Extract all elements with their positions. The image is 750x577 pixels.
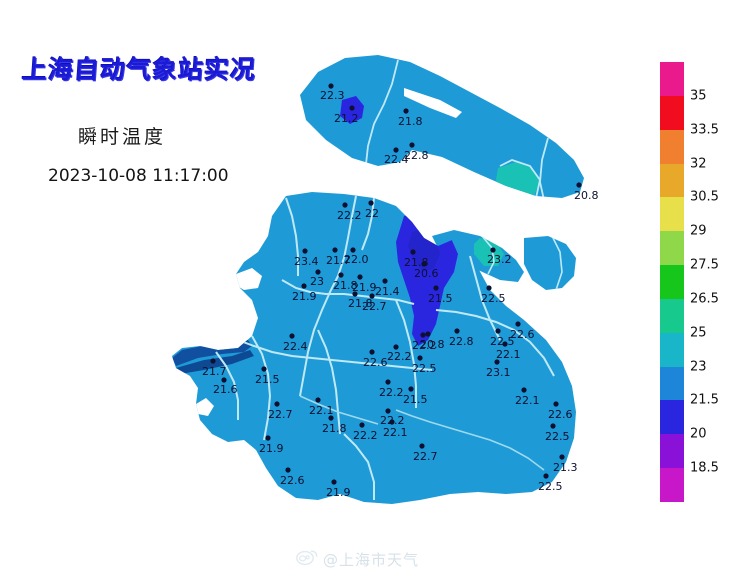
legend-band-9 bbox=[660, 367, 684, 401]
station-temperature-label: 22.1 bbox=[515, 394, 540, 407]
station-dot bbox=[393, 344, 398, 349]
station-dot bbox=[420, 332, 425, 337]
station-dot bbox=[515, 321, 520, 326]
station-temperature-label: 22.6 bbox=[548, 408, 573, 421]
station-temperature-label: 22.8 bbox=[449, 335, 474, 348]
legend-tick-5: 27.5 bbox=[690, 258, 719, 273]
station-dot bbox=[576, 182, 581, 187]
station-temperature-label: 22.1 bbox=[496, 348, 521, 361]
station-temperature-label: 22.2 bbox=[353, 429, 378, 442]
temperature-legend: 3533.53230.52927.526.5252321.52018.5 bbox=[660, 62, 684, 502]
legend-tick-6: 26.5 bbox=[690, 291, 719, 306]
station-dot bbox=[331, 479, 336, 484]
station-temperature-label: 21.5 bbox=[428, 292, 453, 305]
station-temperature-label: 21.2 bbox=[334, 112, 359, 125]
legend-band-6 bbox=[660, 265, 684, 299]
station-dot bbox=[385, 408, 390, 413]
station-temperature-label: 22.2 bbox=[387, 350, 412, 363]
legend-band-0 bbox=[660, 62, 684, 96]
legend-tick-3: 30.5 bbox=[690, 190, 719, 205]
legend-band-10 bbox=[660, 400, 684, 434]
legend-tick-4: 29 bbox=[690, 224, 707, 239]
station-dot bbox=[349, 105, 354, 110]
station-dot bbox=[302, 248, 307, 253]
station-dot bbox=[490, 247, 495, 252]
station-dot bbox=[274, 401, 279, 406]
station-dot bbox=[495, 328, 500, 333]
station-dot bbox=[454, 328, 459, 333]
station-temperature-label: 22 bbox=[365, 207, 379, 220]
station-temperature-label: 22.2 bbox=[380, 414, 405, 427]
station-dot bbox=[315, 269, 320, 274]
station-temperature-label: 21.4 bbox=[375, 285, 400, 298]
legend-color-bands bbox=[660, 62, 684, 502]
station-dot bbox=[369, 293, 374, 298]
station-dot bbox=[403, 108, 408, 113]
station-temperature-label: 22.6 bbox=[363, 356, 388, 369]
station-dot bbox=[221, 377, 226, 382]
legend-tick-7: 25 bbox=[690, 325, 707, 340]
station-temperature-label: 21.8 bbox=[322, 422, 347, 435]
station-dot bbox=[352, 291, 357, 296]
station-temperature-label: 20.8 bbox=[574, 189, 599, 202]
station-temperature-label: 21.6 bbox=[213, 383, 238, 396]
station-dot bbox=[350, 247, 355, 252]
legend-band-8 bbox=[660, 333, 684, 367]
station-dot bbox=[332, 247, 337, 252]
legend-band-12 bbox=[660, 468, 684, 502]
legend-band-3 bbox=[660, 164, 684, 198]
weibo-icon bbox=[296, 548, 318, 571]
station-temperature-label: 22.5 bbox=[545, 430, 570, 443]
legend-band-2 bbox=[660, 130, 684, 164]
station-dot bbox=[261, 366, 266, 371]
legend-tick-2: 32 bbox=[690, 156, 707, 171]
weather-map-screenshot: 上海自动气象站实况 瞬时温度 2023-10-08 11:17:00 bbox=[0, 0, 750, 577]
station-dot bbox=[393, 147, 398, 152]
station-temperature-label: 22.8 bbox=[404, 149, 429, 162]
station-dot bbox=[385, 379, 390, 384]
station-dot bbox=[410, 249, 415, 254]
station-temperature-label: 22.1 bbox=[383, 426, 408, 439]
station-temperature-label: 22.7 bbox=[268, 408, 293, 421]
station-dot bbox=[433, 285, 438, 290]
station-dot bbox=[425, 331, 430, 336]
legend-tick-10: 20 bbox=[690, 427, 707, 442]
station-temperature-label: 22.2 bbox=[337, 209, 362, 222]
weather-station: 20.8 bbox=[574, 182, 599, 202]
station-temperature-label: 22.5 bbox=[481, 292, 506, 305]
station-dot bbox=[265, 435, 270, 440]
station-temperature-label: 22.5 bbox=[412, 362, 437, 375]
station-temperature-label: 22.5 bbox=[538, 480, 563, 493]
station-temperature-label: 23.1 bbox=[486, 366, 511, 379]
watermark: @上海市天气 bbox=[296, 548, 419, 571]
station-dot bbox=[417, 355, 422, 360]
station-dot bbox=[338, 272, 343, 277]
legend-band-5 bbox=[660, 231, 684, 265]
station-temperature-label: 22.1 bbox=[309, 404, 334, 417]
region-chongming-island bbox=[300, 55, 584, 200]
station-temperature-label: 20.6 bbox=[414, 267, 439, 280]
station-temperature-label: 20.8 bbox=[420, 338, 445, 351]
station-temperature-label: 23 bbox=[310, 275, 324, 288]
station-dot bbox=[315, 397, 320, 402]
station-dot bbox=[421, 261, 426, 266]
legend-tick-1: 33.5 bbox=[690, 122, 719, 137]
legend-tick-8: 23 bbox=[690, 359, 707, 374]
legend-tick-9: 21.5 bbox=[690, 393, 719, 408]
station-temperature-label: 21.9 bbox=[292, 290, 317, 303]
station-dot bbox=[419, 443, 424, 448]
station-temperature-label: 22.7 bbox=[413, 450, 438, 463]
legend-tick-11: 18.5 bbox=[690, 461, 719, 476]
station-temperature-label: 22.2 bbox=[379, 386, 404, 399]
station-temperature-label: 23.4 bbox=[294, 255, 319, 268]
station-temperature-label: 21.9 bbox=[259, 442, 284, 455]
station-temperature-label: 23.2 bbox=[487, 253, 512, 266]
station-dot bbox=[210, 358, 215, 363]
station-dot bbox=[285, 467, 290, 472]
station-dot bbox=[550, 423, 555, 428]
station-dot bbox=[559, 454, 564, 459]
station-temperature-label: 22.4 bbox=[283, 340, 308, 353]
station-temperature-label: 21.9 bbox=[326, 486, 351, 499]
station-dot bbox=[328, 415, 333, 420]
station-temperature-label: 22.6 bbox=[280, 474, 305, 487]
region-hengsha-island bbox=[524, 236, 582, 290]
station-temperature-label: 21.5 bbox=[403, 393, 428, 406]
temperature-map: 22.321.221.822.422.820.823.222.22222.023… bbox=[0, 0, 640, 545]
station-dot bbox=[357, 274, 362, 279]
station-temperature-label: 21.5 bbox=[255, 373, 280, 386]
station-dot bbox=[289, 333, 294, 338]
station-dot bbox=[342, 202, 347, 207]
station-temperature-label: 21.3 bbox=[553, 461, 578, 474]
legend-band-7 bbox=[660, 299, 684, 333]
station-temperature-label: 22.7 bbox=[362, 300, 387, 313]
legend-band-4 bbox=[660, 197, 684, 231]
station-dot bbox=[409, 142, 414, 147]
station-temperature-label: 22.3 bbox=[320, 89, 345, 102]
legend-tick-0: 35 bbox=[690, 88, 707, 103]
station-dot bbox=[408, 386, 413, 391]
watermark-text: @上海市天气 bbox=[323, 549, 419, 570]
station-dot bbox=[382, 278, 387, 283]
station-temperature-label: 21.8 bbox=[398, 115, 423, 128]
legend-band-1 bbox=[660, 96, 684, 130]
station-dot bbox=[521, 387, 526, 392]
station-dot bbox=[494, 359, 499, 364]
legend-band-11 bbox=[660, 434, 684, 468]
station-dot bbox=[359, 422, 364, 427]
station-temperature-label: 21.7 bbox=[202, 365, 227, 378]
station-temperature-label: 22.6 bbox=[510, 328, 535, 341]
station-dot bbox=[486, 285, 491, 290]
station-dot bbox=[368, 200, 373, 205]
station-dot bbox=[328, 83, 333, 88]
station-dot bbox=[369, 349, 374, 354]
station-dot bbox=[301, 283, 306, 288]
station-temperature-label: 21.7 bbox=[326, 254, 351, 267]
station-dot bbox=[543, 473, 548, 478]
station-dot bbox=[553, 401, 558, 406]
station-dot bbox=[502, 341, 507, 346]
